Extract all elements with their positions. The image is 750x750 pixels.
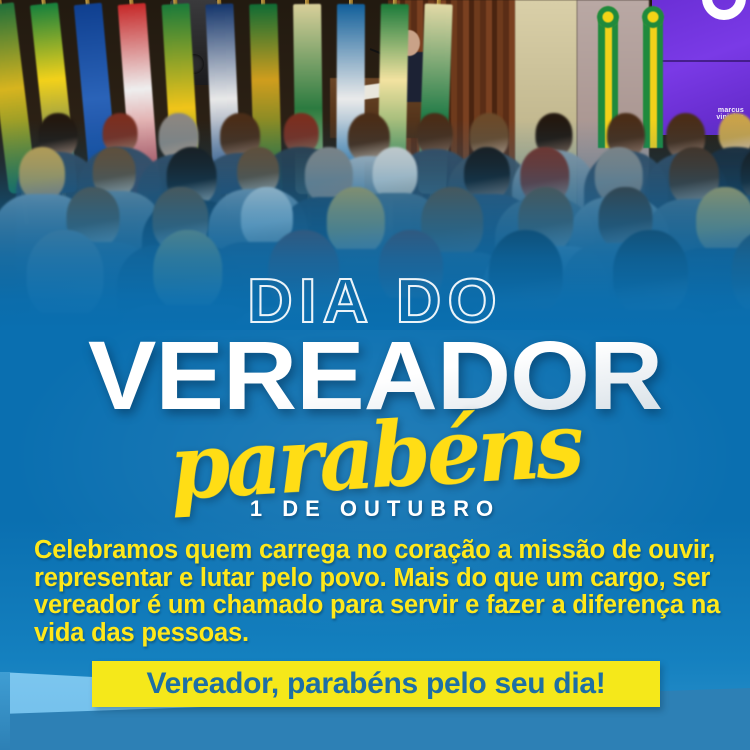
cta-banner-text: Vereador, parabéns pelo seu dia! xyxy=(147,667,606,701)
cta-banner[interactable]: Vereador, parabéns pelo seu dia! xyxy=(92,661,660,707)
date-label: 1 DE OUTUBRO xyxy=(0,496,750,522)
body-paragraph: Celebramos quem carrega no coração a mis… xyxy=(34,537,722,647)
left-edge-strip xyxy=(0,672,10,750)
poster-canvas: marcus vinicius DIA DO VEREADOR parabéns… xyxy=(0,0,750,750)
